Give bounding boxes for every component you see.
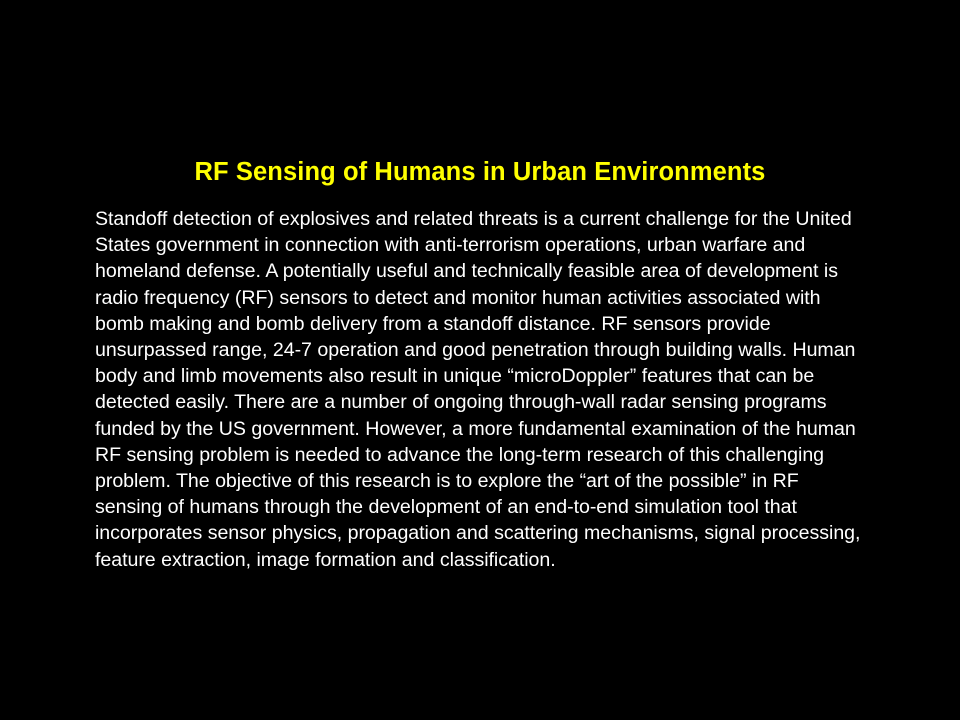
body-paragraph: Standoff detection of explosives and rel… (95, 206, 870, 573)
presentation-slide: RF Sensing of Humans in Urban Environmen… (0, 0, 960, 720)
slide-body-text: Standoff detection of explosives and rel… (95, 206, 870, 573)
page-title: RF Sensing of Humans in Urban Environmen… (0, 157, 960, 187)
